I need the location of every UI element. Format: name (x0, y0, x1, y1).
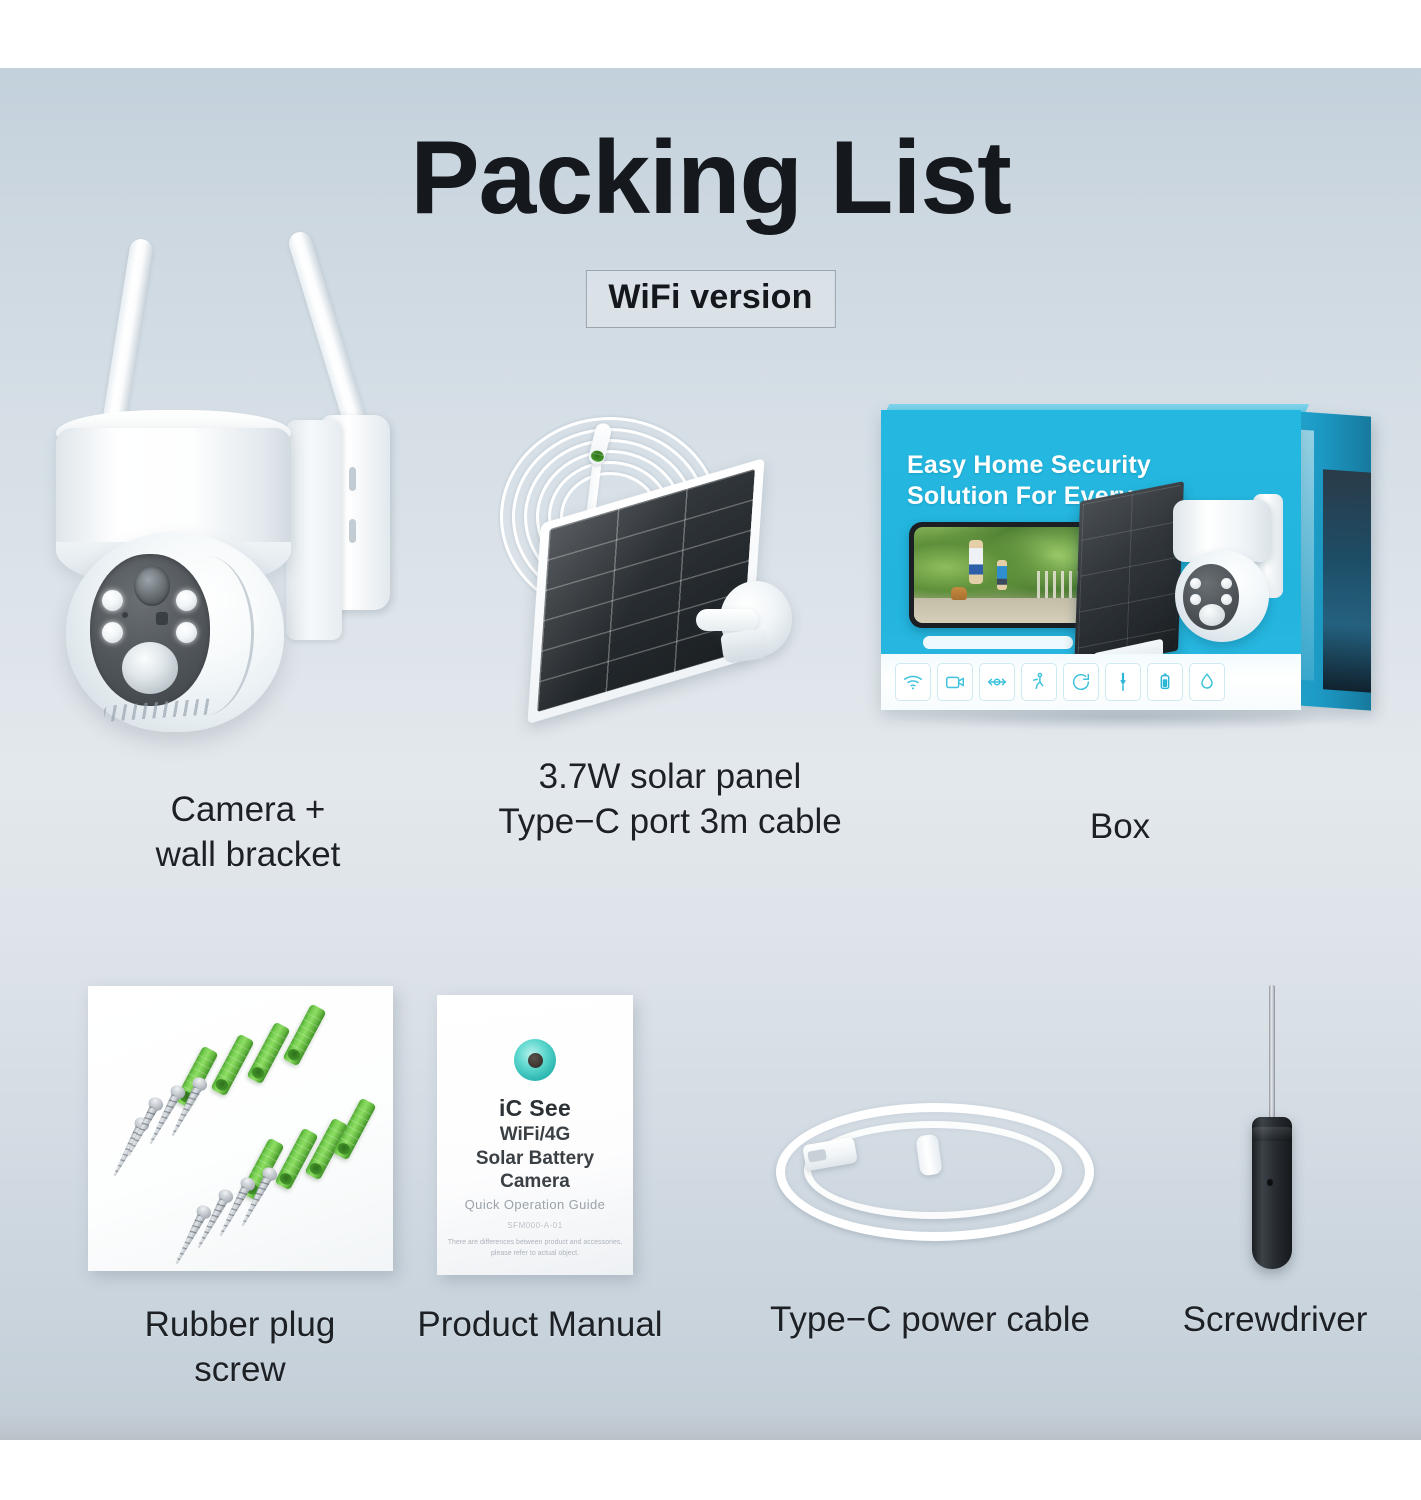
scene-dog (951, 587, 967, 600)
wall-bracket-arm (286, 420, 342, 640)
manual-fine-print: There are differences between product an… (447, 1238, 623, 1259)
waterproof-icon (1189, 663, 1225, 701)
mount-stem (696, 609, 758, 631)
ptz-camera-icon (48, 232, 448, 772)
solar-panel-icon (490, 415, 850, 715)
scene-child-figure (997, 560, 1007, 590)
manual-icon: iC See WiFi/4G Solar Battery Camera Quic… (437, 995, 633, 1275)
cable-icon (770, 1085, 1100, 1275)
speaker-vents (104, 698, 215, 722)
caption-screwdriver: Screwdriver (1140, 1298, 1410, 1343)
antenna-right (286, 229, 369, 435)
rotation-icon (1063, 663, 1099, 701)
box-art-camera-face (1183, 564, 1239, 630)
box-front-face: Easy Home Security Solution For Everyone (881, 410, 1301, 710)
microphone-icon (122, 612, 128, 618)
led-spotlight (176, 622, 197, 643)
caption-product-manual: Product Manual (395, 1303, 685, 1348)
version-badge: WiFi version (585, 270, 835, 328)
box-art-led (1190, 578, 1201, 589)
caption-power-cable: Type−C power cable (720, 1298, 1140, 1343)
bracket-slot (349, 519, 356, 543)
scene-adult-figure (969, 540, 983, 584)
manual-guide-label: Quick Operation Guide (437, 1197, 633, 1212)
retail-box-icon: Easy Home Security Solution For Everyone (873, 404, 1403, 730)
box-side-strip (1301, 430, 1314, 681)
manual-brand: iC See (437, 1095, 633, 1122)
scene-ground (914, 598, 1090, 623)
page-title: Packing List (0, 124, 1421, 233)
bracket-slot (349, 467, 356, 491)
wifi-icon (895, 663, 931, 701)
pir-sensor-icon (122, 642, 178, 694)
hd-camera-icon (937, 663, 973, 701)
led-spotlight (102, 590, 123, 611)
packing-list-page: Packing List WiFi version C (0, 0, 1421, 1500)
box-art-led (1221, 578, 1232, 589)
phone-mockup (909, 522, 1095, 628)
caption-rubber-plug-screw: Rubber plug screw (70, 1303, 410, 1393)
led-spotlight (102, 622, 123, 643)
wall-plug (282, 1004, 326, 1067)
mount-foot (720, 628, 770, 664)
box-white-bar (923, 636, 1073, 649)
light-sensor-icon (156, 612, 168, 625)
caption-box: Box (930, 805, 1310, 850)
box-feature-icon-strip (881, 654, 1301, 710)
phone-screen (914, 527, 1090, 623)
manual-subtitle: WiFi/4G Solar Battery Camera (437, 1123, 633, 1194)
caption-camera: Camera + wall bracket (48, 788, 448, 878)
manual-code: SFM000-A-01 (437, 1221, 633, 1230)
box-art-camera-dome (1175, 550, 1269, 642)
screwdriver-icon (1246, 985, 1306, 1275)
box-art-led (1190, 594, 1201, 605)
led-spotlight (176, 590, 197, 611)
screwdriver-handle (1252, 1117, 1292, 1269)
motion-detection-icon (1021, 663, 1057, 701)
caption-solar-panel: 3.7W solar panel Type−C port 3m cable (440, 755, 900, 845)
screws-icon (88, 986, 393, 1271)
box-art-pir (1199, 604, 1225, 626)
box-art-camera (1157, 488, 1287, 674)
screwdriver-shaft (1269, 985, 1275, 1125)
battery-icon (1147, 663, 1183, 701)
camera-faceplate (90, 554, 210, 706)
box-side-face (1297, 411, 1371, 710)
solar-mount-bracket (696, 575, 792, 667)
solar-charge-icon (1105, 663, 1141, 701)
camera-dome (66, 532, 284, 732)
box-art-led (1221, 594, 1232, 605)
ic-see-logo-icon (514, 1039, 556, 1081)
box-side-photo (1323, 469, 1371, 692)
wall-plug (210, 1034, 254, 1097)
antenna-left (101, 237, 154, 433)
pan-tilt-icon (979, 663, 1015, 701)
camera-lens-icon (134, 566, 170, 606)
